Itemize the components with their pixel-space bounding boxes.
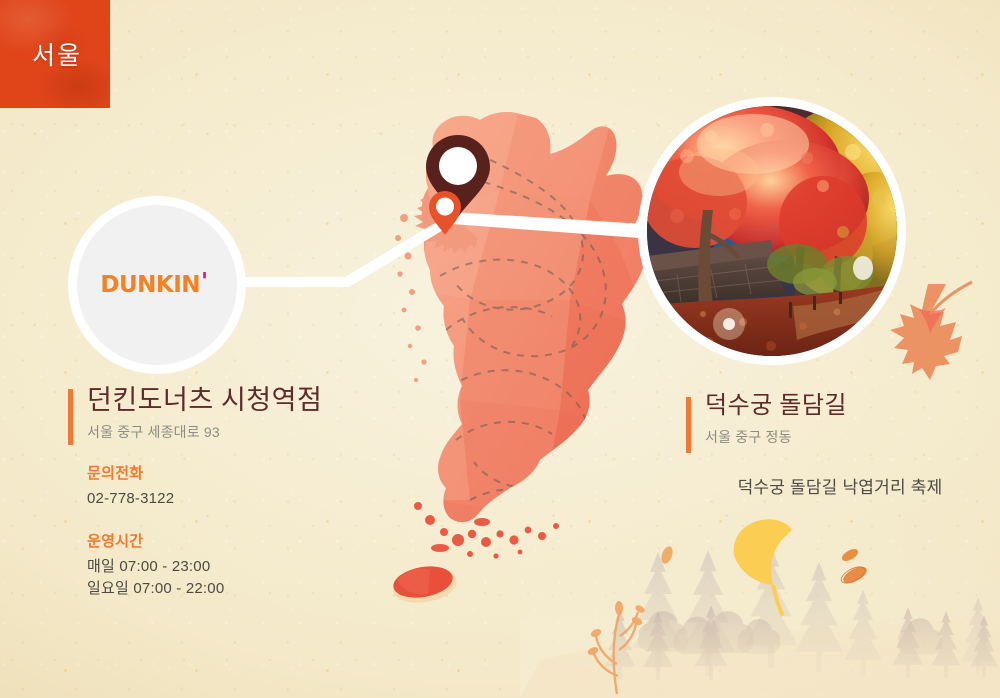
dunkin-phone-value[interactable]: 02-778-3122: [87, 488, 408, 510]
region-badge-label: 서울: [28, 36, 82, 72]
map-pin-secondary[interactable]: [428, 190, 462, 241]
region-badge: 서울: [0, 0, 110, 108]
info-card-dunkin: 던킨도너츠 시청역점 서울 중구 세종대로 93 문의전화 02-778-312…: [68, 385, 408, 599]
dunkin-phone-field: 문의전화 02-778-3122: [68, 462, 408, 510]
dunkin-wordmark: DUNKIN': [100, 272, 207, 298]
deoksugung-address: 서울 중구 정동: [705, 427, 986, 447]
info-card-deoksugung: 덕수궁 돌담길 서울 중구 정동 덕수궁 돌담길 낙엽거리 축제: [686, 393, 986, 498]
deoksugung-photo-circle[interactable]: [638, 97, 906, 365]
dunkin-title-row: 던킨도너츠 시청역점 서울 중구 세종대로 93: [68, 385, 408, 442]
dunkin-title: 던킨도너츠 시청역점: [87, 385, 408, 416]
dunkin-hours-field: 운영시간 매일 07:00 - 23:00 일요일 07:00 - 22:00: [68, 530, 408, 600]
deoksugung-title-row: 덕수궁 돌담길 서울 중구 정동: [686, 393, 986, 447]
accent-bar: [686, 397, 691, 453]
deoksugung-caption: 덕수궁 돌담길 낙엽거리 축제: [686, 473, 986, 498]
deoksugung-title: 덕수궁 돌담길: [705, 393, 986, 421]
dunkin-hours-value: 매일 07:00 - 23:00 일요일 07:00 - 22:00: [87, 556, 408, 600]
accent-bar: [68, 389, 73, 445]
dunkin-wordmark-text: DUNKIN: [100, 272, 200, 298]
dunkin-hours-label: 운영시간: [87, 530, 408, 551]
dunkin-address: 서울 중구 세종대로 93: [87, 422, 408, 442]
poster-canvas: DUNKIN': [0, 0, 1000, 698]
dunkin-phone-label: 문의전화: [87, 462, 408, 483]
dunkin-apostrophe: ': [201, 272, 208, 293]
dunkin-logo-circle[interactable]: DUNKIN': [68, 196, 246, 374]
autumn-foliage-photo: [647, 106, 897, 356]
